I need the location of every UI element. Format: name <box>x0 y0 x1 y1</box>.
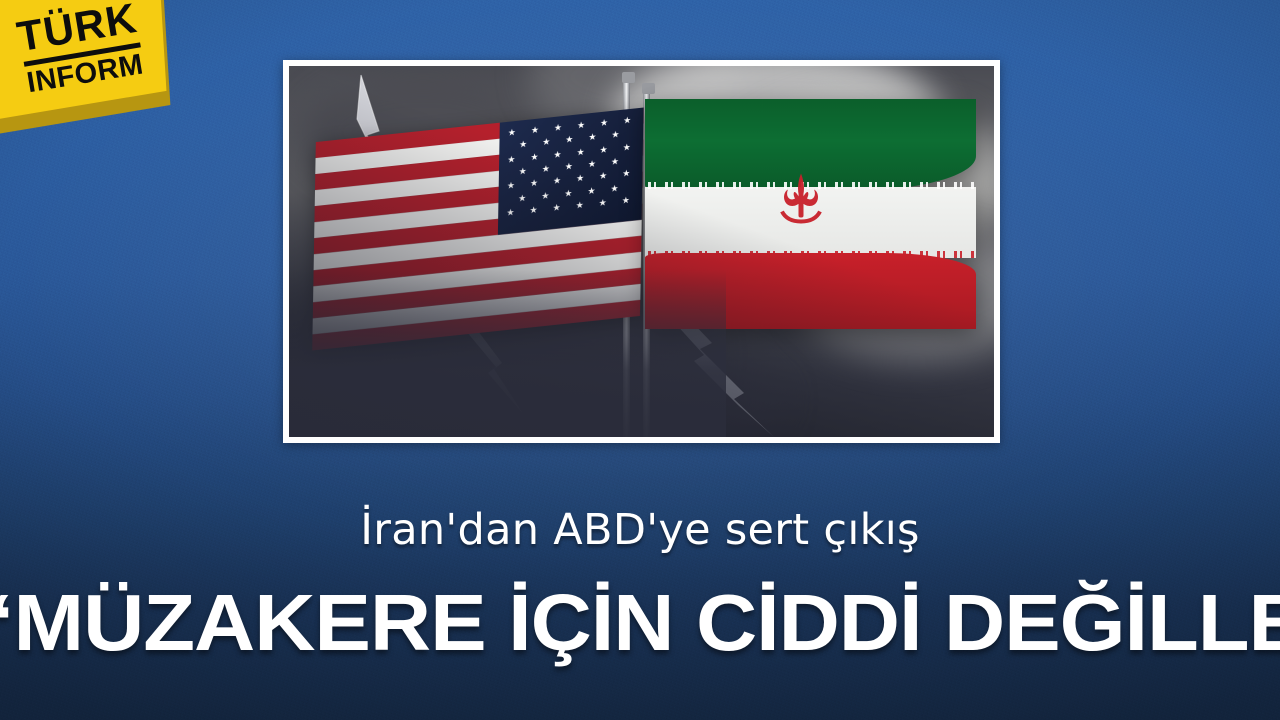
logo-text-group: TÜRK INFORM <box>0 0 199 150</box>
headline-kicker: İran'dan ABD'ye sert çıkış <box>0 505 1280 555</box>
photo-shade-overlay-bottom <box>289 270 726 437</box>
hero-photo: ★ ★ ★ ★ ★ ★ ★ ★ ★ ★ ★ ★ ★ ★ ★ ★ ★ <box>289 66 994 437</box>
headline-main: “MÜZAKERE İÇİN CİDDİ DEĞİLLER” <box>0 583 1280 663</box>
news-graphic-canvas: TÜRK INFORM <box>0 0 1280 720</box>
brand-logo[interactable]: TÜRK INFORM <box>0 0 188 134</box>
hero-photo-frame: ★ ★ ★ ★ ★ ★ ★ ★ ★ ★ ★ ★ ★ ★ ★ ★ ★ <box>283 60 1000 443</box>
